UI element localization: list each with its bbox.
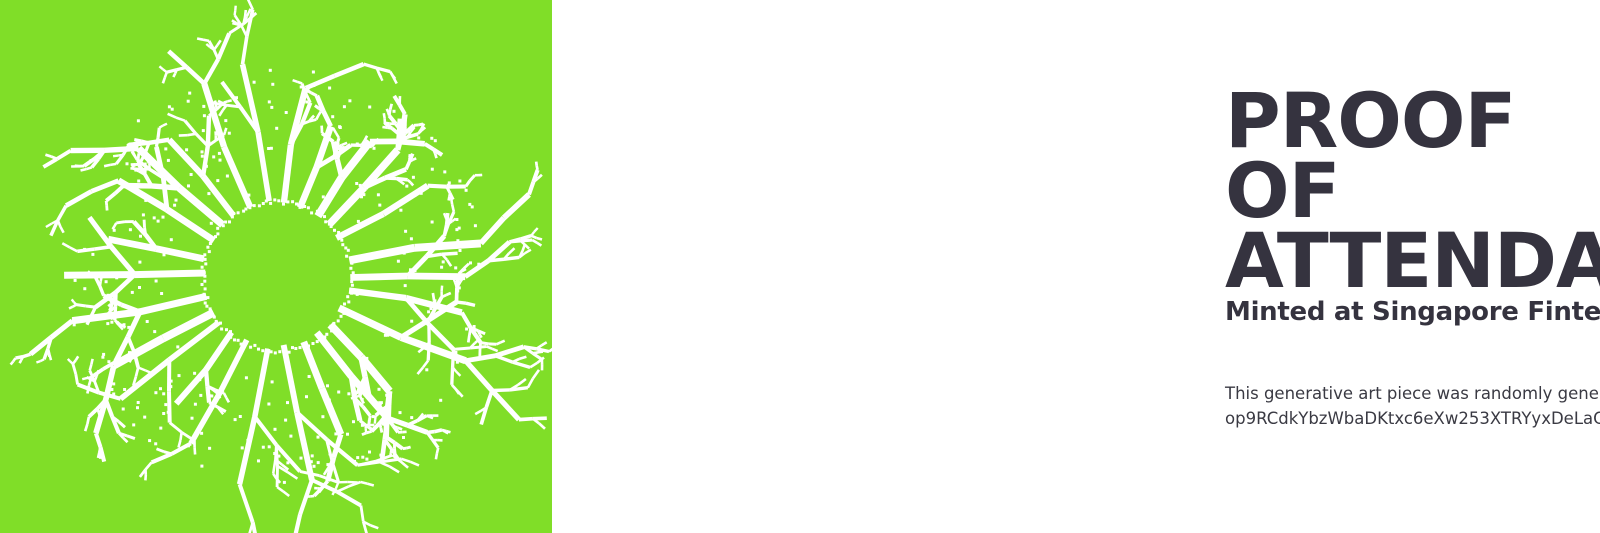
hash-description-block: This generative art piece was randomly g…: [1225, 381, 1600, 431]
certificate-text-panel: PROOF OF ATTENDANCE Minted at Singapore …: [552, 0, 1600, 533]
generative-radial-branch-art: [0, 0, 552, 533]
event-subtitle: Minted at Singapore Fintech Festival 202…: [1225, 298, 1600, 327]
generative-description-text: This generative art piece was randomly g…: [1225, 381, 1600, 406]
art-branch-group: [11, 0, 552, 533]
generative-art-panel: [0, 0, 552, 533]
proof-of-attendance-certificate: PROOF OF ATTENDANCE Minted at Singapore …: [0, 0, 1600, 533]
transaction-hash-text: op9RCdkYbzWbaDKtxc6eXw253XTRYyxDeLaQb47W…: [1225, 406, 1600, 431]
page-title: PROOF OF ATTENDANCE: [1225, 86, 1600, 296]
